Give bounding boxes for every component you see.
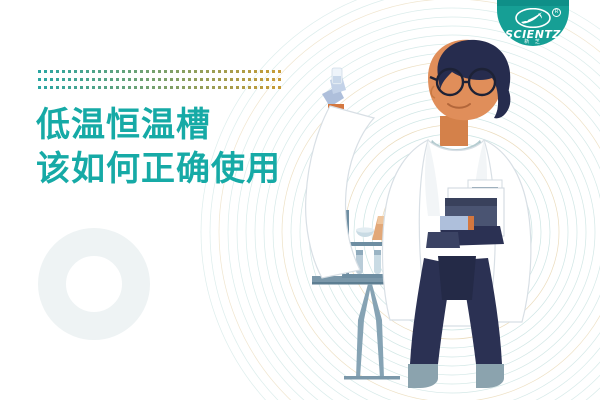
raised-arm-with-vial <box>322 68 346 110</box>
scientist-illustration <box>300 20 600 400</box>
registered-trademark-icon: R <box>552 8 561 17</box>
dotted-grid-decoration <box>38 70 281 94</box>
logo-top-bar <box>497 0 569 6</box>
beaker <box>356 227 374 237</box>
coat-left-sleeve <box>306 106 374 278</box>
shoes <box>408 364 504 388</box>
poster-canvas: 低温恒温槽 该如何正确使用 R SCIENTZ 新 芝 <box>0 0 600 400</box>
decorative-ring <box>38 228 150 340</box>
scientist-head <box>428 40 510 120</box>
